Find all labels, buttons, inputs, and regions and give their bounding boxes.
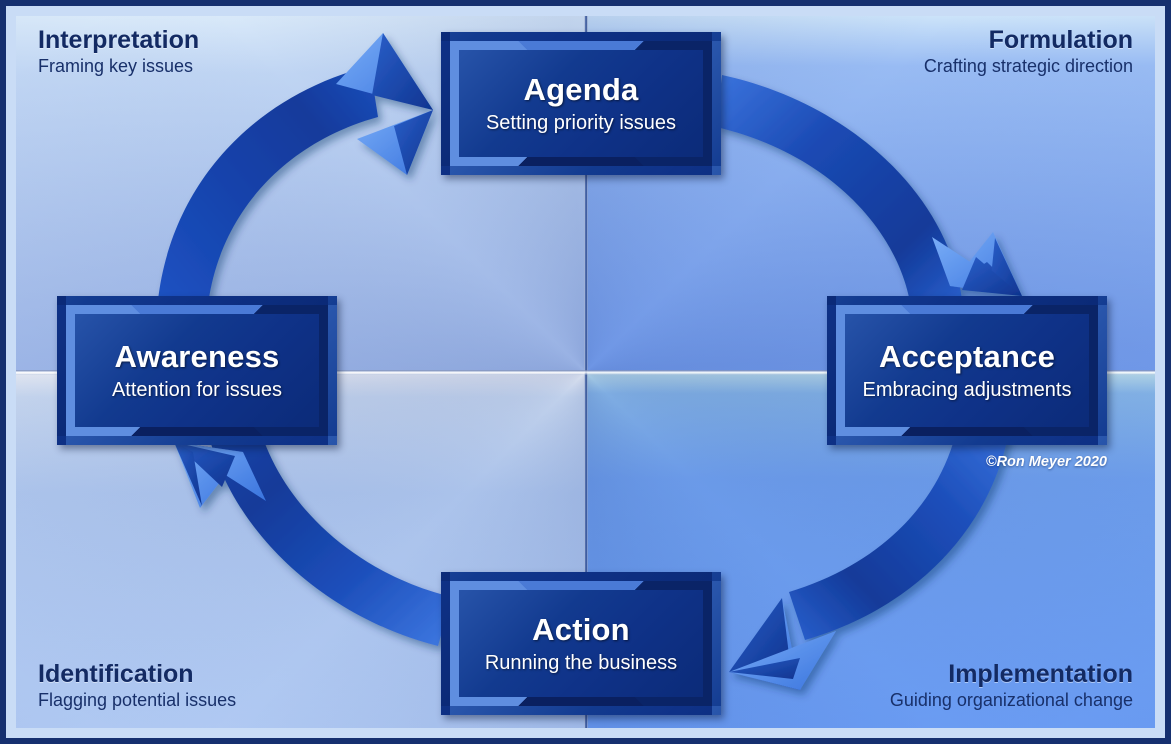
- stage-box-agenda[interactable]: Agenda Setting priority issues: [441, 32, 721, 175]
- quadrant-subtitle: Crafting strategic direction: [924, 56, 1133, 76]
- quadrant-title: Formulation: [924, 26, 1133, 54]
- stage-title: Action: [532, 612, 630, 648]
- stage-subtitle: Attention for issues: [112, 379, 282, 402]
- quadrant-title: Interpretation: [38, 26, 199, 54]
- quadrant-subtitle: Framing key issues: [38, 56, 199, 76]
- quadrant-subtitle: Guiding organizational change: [890, 690, 1133, 710]
- stage-subtitle: Running the business: [485, 652, 677, 675]
- quadrant-subtitle: Flagging potential issues: [38, 690, 236, 710]
- stage-box-action[interactable]: Action Running the business: [441, 572, 721, 715]
- stage-title: Acceptance: [879, 339, 1055, 375]
- quadrant-label-identification: Identification Flagging potential issues: [38, 660, 236, 710]
- stage-title: Awareness: [115, 339, 280, 375]
- stage-title: Agenda: [524, 72, 639, 108]
- diagram-canvas: Interpretation Framing key issues Formul…: [0, 0, 1171, 744]
- stage-subtitle: Embracing adjustments: [863, 379, 1072, 402]
- quadrant-label-interpretation: Interpretation Framing key issues: [38, 26, 199, 76]
- stage-subtitle: Setting priority issues: [486, 112, 676, 135]
- stage-box-acceptance[interactable]: Acceptance Embracing adjustments: [827, 296, 1107, 445]
- quadrant-title: Identification: [38, 660, 236, 688]
- quadrant-label-formulation: Formulation Crafting strategic direction: [924, 26, 1133, 76]
- quadrant-label-implementation: Implementation Guiding organizational ch…: [890, 660, 1133, 710]
- quadrant-title: Implementation: [890, 660, 1133, 688]
- copyright-notice: ©Ron Meyer 2020: [986, 454, 1107, 470]
- stage-box-awareness[interactable]: Awareness Attention for issues: [57, 296, 337, 445]
